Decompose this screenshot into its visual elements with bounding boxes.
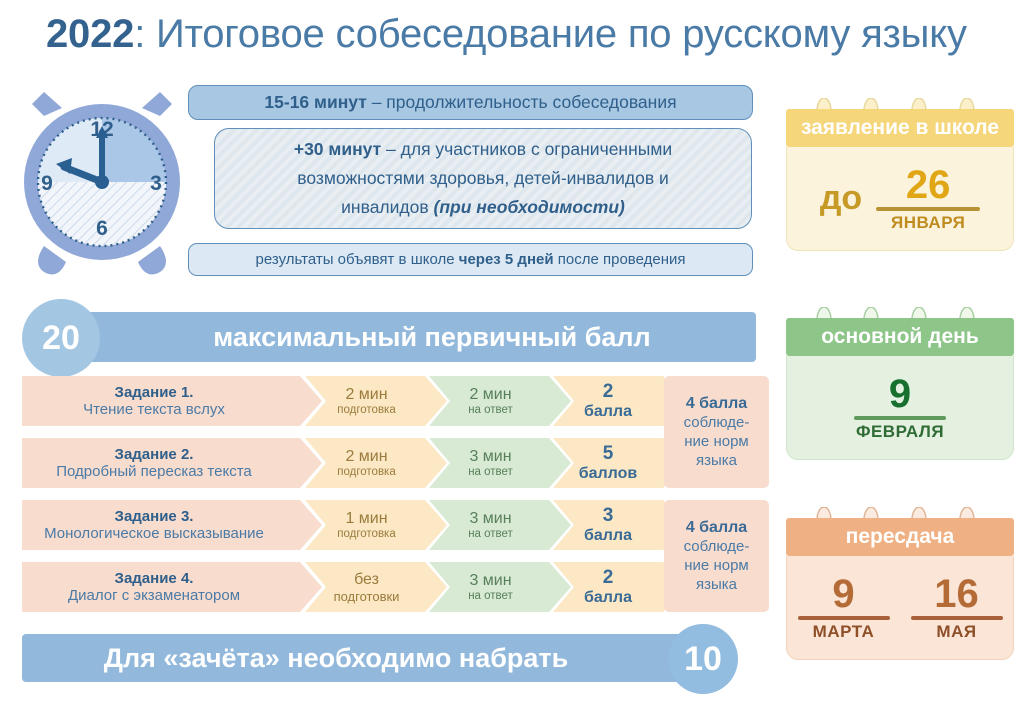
norm-block: 4 балла соблюде- ние норм языка: [664, 376, 769, 488]
extra-line1: – для участников с ограниченными: [381, 139, 672, 159]
calendar-retake: пересдача 9 МАРТА 16 МАЯ: [786, 518, 1014, 660]
pass-score-label: Для «зачёта» необходимо набрать: [104, 643, 613, 674]
answer-value: 3 мин: [469, 572, 511, 590]
duration-info-box: 15-16 минут – продолжительность собеседо…: [188, 85, 753, 120]
table-row: Задание 2. Подробный пересказ текста 2 м…: [22, 438, 756, 488]
svg-text:9: 9: [41, 172, 53, 195]
answer-label: на ответ: [468, 528, 513, 540]
points-label: балла: [584, 403, 632, 421]
norm-line3: языка: [696, 575, 737, 594]
pass-score-bar: Для «зачёта» необходимо набрать: [22, 634, 694, 682]
calendar-application: заявление в школе до 26 ЯНВАРЯ: [786, 109, 1014, 251]
answer-label: на ответ: [468, 404, 513, 416]
task-desc: Диалог с экзаменатором: [22, 587, 286, 604]
points-cell: 2 балла: [553, 376, 663, 426]
calendar-main-day: основной день 9 ФЕВРАЛЯ: [786, 318, 1014, 460]
norm-line2: ние норм: [684, 432, 748, 451]
task-desc: Чтение текста вслух: [22, 401, 286, 418]
points-value: 2: [603, 567, 614, 589]
points-label: баллов: [579, 465, 638, 483]
table-row: Задание 1. Чтение текста вслух 2 мин под…: [22, 376, 756, 426]
calendar-header: заявление в школе: [786, 109, 1014, 147]
norm-block: 4 балла соблюде- ние норм языка: [664, 500, 769, 612]
calendar-header: пересдача: [786, 518, 1014, 556]
calendar-rule: [876, 207, 980, 211]
extra-italic: (при необходимости): [434, 197, 625, 217]
results-pre: результаты объявят в школе: [256, 251, 459, 268]
points-cell: 2 балла: [553, 562, 663, 612]
calendar-day: 26: [906, 164, 951, 206]
extra-bold: +30 минут: [294, 139, 381, 159]
task-title: Задание 4.: [22, 570, 286, 587]
norm-points: 4 балла: [686, 518, 747, 537]
calendar-date: 26 ЯНВАРЯ: [876, 164, 980, 233]
calendar-body: 9 МАРТА 16 МАЯ: [786, 556, 1014, 660]
calendar-date: 9 ФЕВРАЛЯ: [854, 373, 946, 442]
prep-label: подготовка: [337, 466, 396, 478]
calendar-day: 9: [889, 373, 911, 415]
points-label: балла: [584, 589, 632, 607]
task-name-cell: Задание 4. Диалог с экзаменатором: [22, 562, 304, 612]
points-value: 5: [603, 443, 614, 465]
max-score-label: максимальный первичный балл: [167, 322, 650, 353]
task-name-cell: Задание 1. Чтение текста вслух: [22, 376, 304, 426]
norm-line2: ние норм: [684, 556, 748, 575]
extra-line2: возможностями здоровья, детей-инвалидов …: [297, 168, 669, 188]
task-name-cell: Задание 2. Подробный пересказ текста: [22, 438, 304, 488]
task-title: Задание 2.: [22, 446, 286, 463]
prep-cell: 1 мин подготовка: [305, 500, 428, 550]
prep-value: без: [354, 571, 379, 589]
task-table: Задание 1. Чтение текста вслух 2 мин под…: [22, 376, 756, 622]
pass-score-badge: 10: [668, 624, 738, 694]
results-post: после проведения: [554, 251, 686, 268]
max-score-badge: 20: [22, 299, 100, 377]
norm-line3: языка: [696, 451, 737, 470]
svg-text:3: 3: [150, 172, 162, 195]
calendar-rule: [798, 616, 890, 620]
duration-rest: – продолжительность собеседования: [367, 92, 677, 112]
task-desc: Монологическое высказывание: [22, 525, 286, 542]
task-desc: Подробный пересказ текста: [22, 463, 286, 480]
task-title: Задание 3.: [22, 508, 286, 525]
points-value: 2: [603, 381, 614, 403]
points-cell: 3 балла: [553, 500, 663, 550]
calendar-day: 16: [934, 573, 979, 615]
points-label: балла: [584, 527, 632, 545]
prep-label: подготовка: [337, 404, 396, 416]
duration-bold: 15-16 минут: [264, 92, 366, 112]
answer-cell: 3 мин на ответ: [429, 500, 552, 550]
prep-cell: 2 мин подготовка: [305, 376, 428, 426]
table-row: Задание 3. Монологическое высказывание 1…: [22, 500, 756, 550]
answer-value: 2 мин: [469, 386, 511, 404]
prep-cell: 2 мин подготовка: [305, 438, 428, 488]
calendar-day: 9: [832, 573, 854, 615]
calendar-body: до 26 ЯНВАРЯ: [786, 147, 1014, 251]
points-value: 3: [603, 505, 614, 527]
calendar-month: ЯНВАРЯ: [891, 213, 965, 233]
norm-points: 4 балла: [686, 394, 747, 413]
pass-score-value: 10: [684, 640, 722, 679]
page-title: 2022: Итоговое собеседование по русскому…: [46, 12, 1006, 66]
infographic-page: 2022: Итоговое собеседование по русскому…: [0, 0, 1024, 709]
title-year: 2022: [46, 12, 134, 56]
alarm-clock-icon: 12 3 6 9: [14, 86, 190, 282]
prep-label: подготовки: [334, 589, 400, 604]
norm-line1: соблюде-: [684, 413, 750, 432]
max-score-value: 20: [42, 319, 80, 358]
answer-label: на ответ: [468, 590, 513, 602]
results-info-box: результаты объявят в школе через 5 дней …: [188, 243, 753, 276]
prep-value: 2 мин: [345, 386, 387, 404]
task-title: Задание 1.: [22, 384, 286, 401]
norm-line1: соблюде-: [684, 537, 750, 556]
calendar-rule: [911, 616, 1003, 620]
calendar-month: ФЕВРАЛЯ: [856, 422, 944, 442]
table-row: Задание 4. Диалог с экзаменатором без по…: [22, 562, 756, 612]
prep-label: подготовка: [337, 528, 396, 540]
answer-value: 3 мин: [469, 510, 511, 528]
answer-cell: 2 мин на ответ: [429, 376, 552, 426]
results-bold: через 5 дней: [459, 251, 554, 268]
calendar-prefix: до: [820, 179, 862, 218]
answer-label: на ответ: [468, 466, 513, 478]
svg-text:6: 6: [96, 217, 108, 240]
calendar-date: 9 МАРТА: [798, 573, 890, 642]
calendar-month: МАРТА: [813, 622, 875, 642]
prep-value: 2 мин: [345, 448, 387, 466]
task-name-cell: Задание 3. Монологическое высказывание: [22, 500, 304, 550]
answer-value: 3 мин: [469, 448, 511, 466]
calendar-date: 16 МАЯ: [911, 573, 1003, 642]
points-cell: 5 баллов: [553, 438, 663, 488]
answer-cell: 3 мин на ответ: [429, 562, 552, 612]
calendar-body: 9 ФЕВРАЛЯ: [786, 356, 1014, 460]
calendar-header: основной день: [786, 318, 1014, 356]
extra-time-info-box: +30 минут – для участников с ограниченны…: [214, 128, 752, 229]
calendar-month: МАЯ: [936, 622, 976, 642]
title-rest: : Итоговое собеседование по русскому язы…: [134, 12, 967, 56]
prep-value: 1 мин: [345, 510, 387, 528]
answer-cell: 3 мин на ответ: [429, 438, 552, 488]
calendar-rule: [854, 416, 946, 420]
prep-cell: без подготовки: [305, 562, 428, 612]
max-score-bar: максимальный первичный балл: [62, 312, 756, 362]
extra-line3: инвалидов: [341, 197, 433, 217]
